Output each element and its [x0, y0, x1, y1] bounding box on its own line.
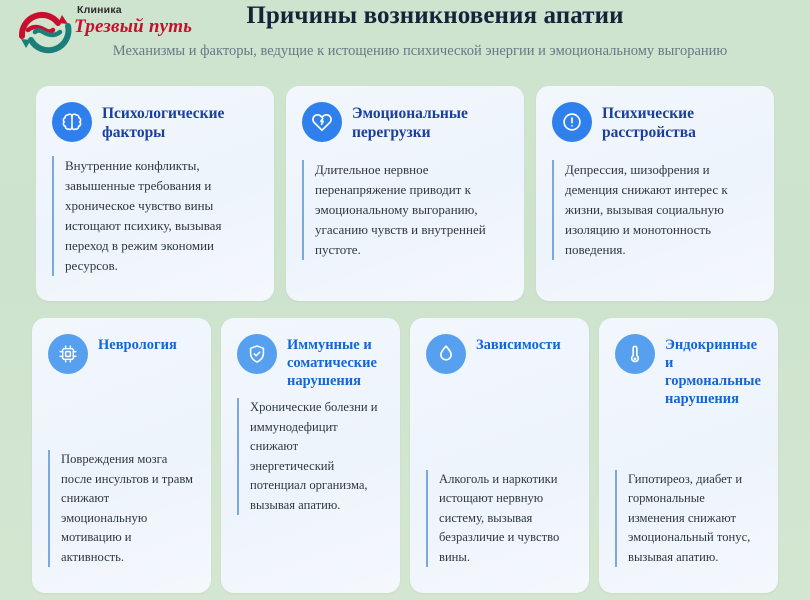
thermometer-icon [615, 334, 655, 374]
card-header: Зависимости [426, 334, 573, 378]
card-title: Психические расстройства [602, 102, 758, 142]
card-emotional-overload: Эмоциональные перегрузки Длительное нерв… [286, 86, 524, 301]
card-header: Психологические факторы [52, 102, 258, 146]
card-neurology: Неврология Повреждения мозга после инсул… [32, 318, 211, 593]
card-title: Зависимости [476, 334, 561, 354]
card-mental-disorders: Психические расстройства Депрессия, шизо… [536, 86, 774, 301]
card-title: Неврология [98, 334, 177, 354]
water-drop-icon [426, 334, 466, 374]
shield-check-icon [237, 334, 277, 374]
cpu-chip-icon [48, 334, 88, 374]
card-immune-somatic: Иммунные и соматические нарушения Хронич… [221, 318, 400, 593]
brain-icon [52, 102, 92, 142]
card-row-2: Неврология Повреждения мозга после инсул… [0, 318, 810, 593]
card-title: Психологические факторы [102, 102, 258, 142]
page-header: Клиника Трезвый путь Причины возникновен… [0, 0, 810, 72]
card-description: Длительное нервное перенапряжение привод… [302, 160, 508, 260]
card-header: Эмоциональные перегрузки [302, 102, 508, 146]
card-header: Эндокринные и гормональные нарушения [615, 334, 762, 408]
card-addictions: Зависимости Алкоголь и наркотики истощаю… [410, 318, 589, 593]
broken-heart-icon [302, 102, 342, 142]
card-description: Гипотиреоз, диабет и гормональные измене… [615, 470, 762, 568]
card-header: Психические расстройства [552, 102, 758, 146]
card-header: Неврология [48, 334, 195, 378]
card-description: Повреждения мозга после инсультов и трав… [48, 450, 195, 567]
card-endocrine-hormonal: Эндокринные и гормональные нарушения Гип… [599, 318, 778, 593]
card-title: Иммунные и соматические нарушения [287, 334, 384, 390]
card-header: Иммунные и соматические нарушения [237, 334, 384, 390]
alert-circle-icon [552, 102, 592, 142]
card-psychological-factors: Психологические факторы Внутренние конфл… [36, 86, 274, 301]
card-row-1: Психологические факторы Внутренние конфл… [0, 86, 810, 301]
card-description: Депрессия, шизофрения и деменция снижают… [552, 160, 758, 260]
card-description: Алкоголь и наркотики истощают нервную си… [426, 470, 573, 568]
infographic-page: Клиника Трезвый путь Причины возникновен… [0, 0, 810, 600]
card-description: Хронические болезни и иммунодефицит сниж… [237, 398, 384, 515]
page-subtitle: Механизмы и факторы, ведущие к истощению… [0, 43, 810, 60]
card-description: Внутренние конфликты, завышенные требова… [52, 156, 258, 276]
page-title: Причины возникновения апатии [0, 2, 810, 30]
card-title: Эмоциональные перегрузки [352, 102, 508, 142]
card-title: Эндокринные и гормональные нарушения [665, 334, 762, 408]
